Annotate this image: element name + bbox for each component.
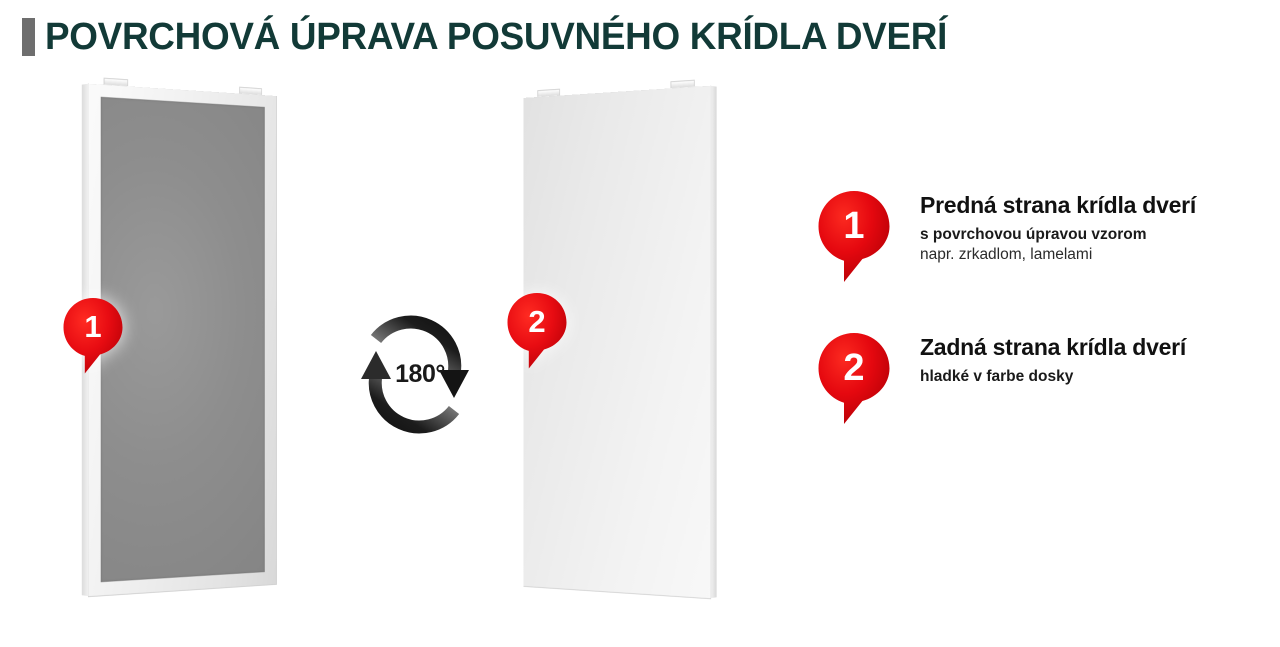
door-front-roller-left bbox=[104, 78, 129, 87]
page-title: POVRCHOVÁ ÚPRAVA POSUVNÉHO KRÍDLA DVERÍ bbox=[45, 17, 947, 57]
door-front-roller-right bbox=[239, 87, 262, 95]
door-front-panel-surface bbox=[101, 97, 265, 582]
page-title-row: POVRCHOVÁ ÚPRAVA POSUVNÉHO KRÍDLA DVERÍ bbox=[22, 12, 975, 62]
door-back-side-edge bbox=[710, 86, 717, 599]
legend-item-1-note: napr. zrkadlom, lamelami bbox=[920, 245, 1280, 266]
door-marker-pin-1[interactable]: 1 bbox=[63, 297, 123, 375]
legend-marker-pin-1[interactable]: 1 bbox=[818, 190, 890, 284]
legend-item-1-subtitle: s povrchovou úpravou vzorom bbox=[920, 225, 1280, 244]
title-accent-bar bbox=[22, 18, 35, 56]
diagram-stage: 1 bbox=[0, 60, 1280, 647]
legend-item-2: Zadná strana krídla dverí hladké v farbe… bbox=[920, 335, 1280, 387]
door-marker-pin-2[interactable]: 2 bbox=[507, 292, 567, 370]
legend-item-2-subtitle: hladké v farbe dosky bbox=[920, 367, 1280, 386]
rotate-180-icon: 180° bbox=[345, 312, 485, 437]
legend-item-2-title: Zadná strana krídla dverí bbox=[920, 335, 1280, 361]
legend-item-1: Predná strana krídla dverí s povrchovou … bbox=[920, 193, 1280, 266]
legend-item-1-title: Predná strana krídla dverí bbox=[920, 193, 1280, 219]
legend-marker-pin-2[interactable]: 2 bbox=[818, 332, 890, 426]
